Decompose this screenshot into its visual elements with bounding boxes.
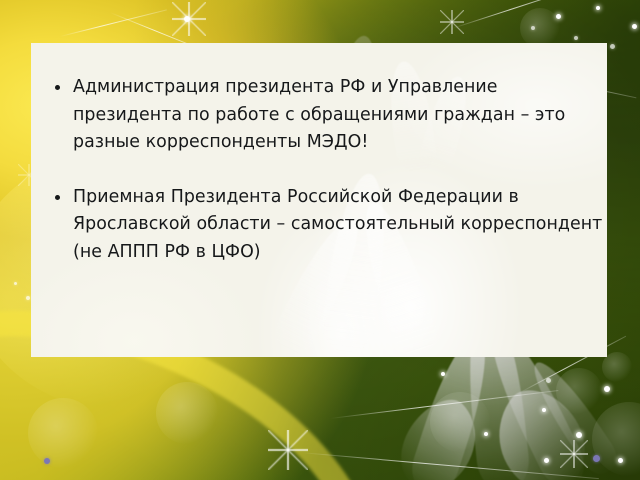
sparkle-dot <box>26 296 30 300</box>
bokeh-circle <box>556 368 602 414</box>
sparkle-icon <box>560 440 588 468</box>
bullet-list-item: Администрация президента РФ и Управление… <box>43 74 593 157</box>
sparkle-dot <box>542 408 546 412</box>
presentation-slide: Администрация президента РФ и Управление… <box>0 0 640 480</box>
sparkle-icon <box>268 430 308 470</box>
content-box: Администрация президента РФ и Управление… <box>31 43 607 357</box>
bullet-text: Приемная Президента Российской Федерации… <box>73 187 602 262</box>
sparkle-dot <box>184 16 190 22</box>
sparkle-dot <box>574 36 578 40</box>
sparkle-dot <box>531 26 535 30</box>
bullet-marker-icon <box>55 195 60 200</box>
bullet-list: Администрация президента РФ и Управление… <box>31 74 607 267</box>
sparkle-dot <box>441 372 445 376</box>
sparkle-dot <box>610 44 615 49</box>
sparkle-dot <box>544 458 549 463</box>
sparkle-dot <box>596 6 600 10</box>
sparkle-dot <box>484 432 488 436</box>
bokeh-circle <box>520 8 560 48</box>
sparkle-dot <box>632 24 637 29</box>
purple-dot <box>44 458 50 464</box>
sparkle-dot <box>14 282 17 285</box>
sparkle-dot <box>576 432 582 438</box>
bullet-list-item: Приемная Президента Российской Федерации… <box>43 184 607 267</box>
sparkle-dot <box>604 386 610 392</box>
bullet-text: Администрация президента РФ и Управление… <box>73 77 565 152</box>
sparkle-dot <box>546 378 551 383</box>
purple-dot <box>593 455 600 462</box>
bullet-marker-icon <box>55 85 60 90</box>
sparkle-icon <box>440 10 464 34</box>
bokeh-circle <box>28 398 98 468</box>
sparkle-dot <box>556 14 561 19</box>
sparkle-dot <box>618 458 623 463</box>
bokeh-circle <box>156 382 218 444</box>
